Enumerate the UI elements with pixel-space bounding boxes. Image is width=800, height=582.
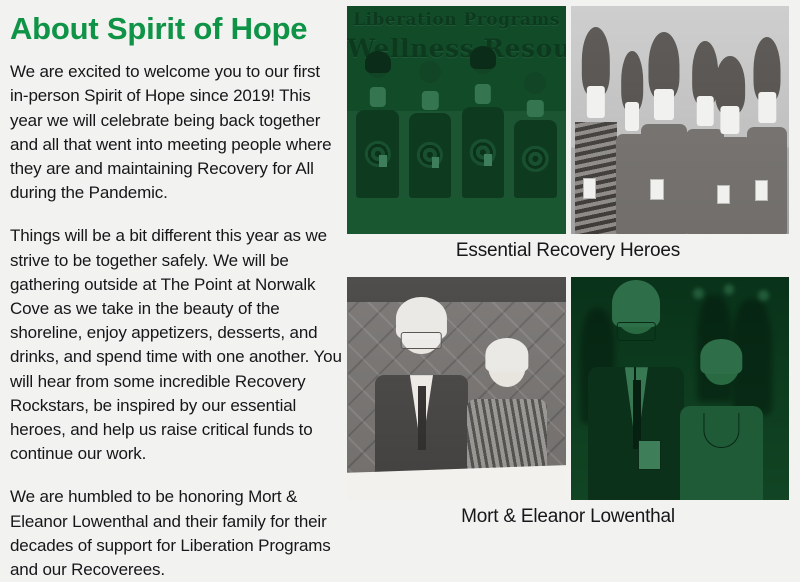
photo-row-mort-eleanor-lowenthal: Mort & Eleanor Lowenthal: [347, 277, 789, 528]
about-paragraph-2: Things will be a bit different this year…: [10, 224, 342, 466]
photo-couple-reception-canvas: [571, 277, 789, 500]
photo-masked-award-group: [571, 6, 789, 234]
green-tint-overlay: [347, 6, 566, 234]
photo-grid: Liberation Programs Wellness Resources: [347, 6, 789, 528]
photo-couple-seated-canvas: [347, 277, 566, 500]
photo-row-essential-recovery-heroes: Liberation Programs Wellness Resources: [347, 6, 789, 276]
grayscale-overlay: [347, 277, 566, 500]
page-root: About Spirit of Hope We are excited to w…: [0, 0, 800, 533]
photo-masked-award-group-canvas: [571, 6, 789, 234]
photo-tie-dye-group-canvas: Liberation Programs Wellness Resources: [347, 6, 566, 234]
about-paragraph-1: We are excited to welcome you to our fir…: [10, 60, 342, 205]
page-title: About Spirit of Hope: [10, 12, 342, 46]
photo-couple-seated: [347, 277, 566, 500]
photo-caption-mort-eleanor-lowenthal: Mort & Eleanor Lowenthal: [347, 506, 789, 528]
photo-tie-dye-group: Liberation Programs Wellness Resources: [347, 6, 566, 234]
about-paragraph-3: We are humbled to be honoring Mort & Ele…: [10, 485, 342, 582]
photo-caption-essential-recovery-heroes: Essential Recovery Heroes: [347, 240, 789, 262]
grayscale-overlay: [571, 6, 789, 234]
green-tint-overlay: [571, 277, 789, 500]
photo-couple-reception: [571, 277, 789, 500]
about-text-column: About Spirit of Hope We are excited to w…: [10, 12, 342, 527]
